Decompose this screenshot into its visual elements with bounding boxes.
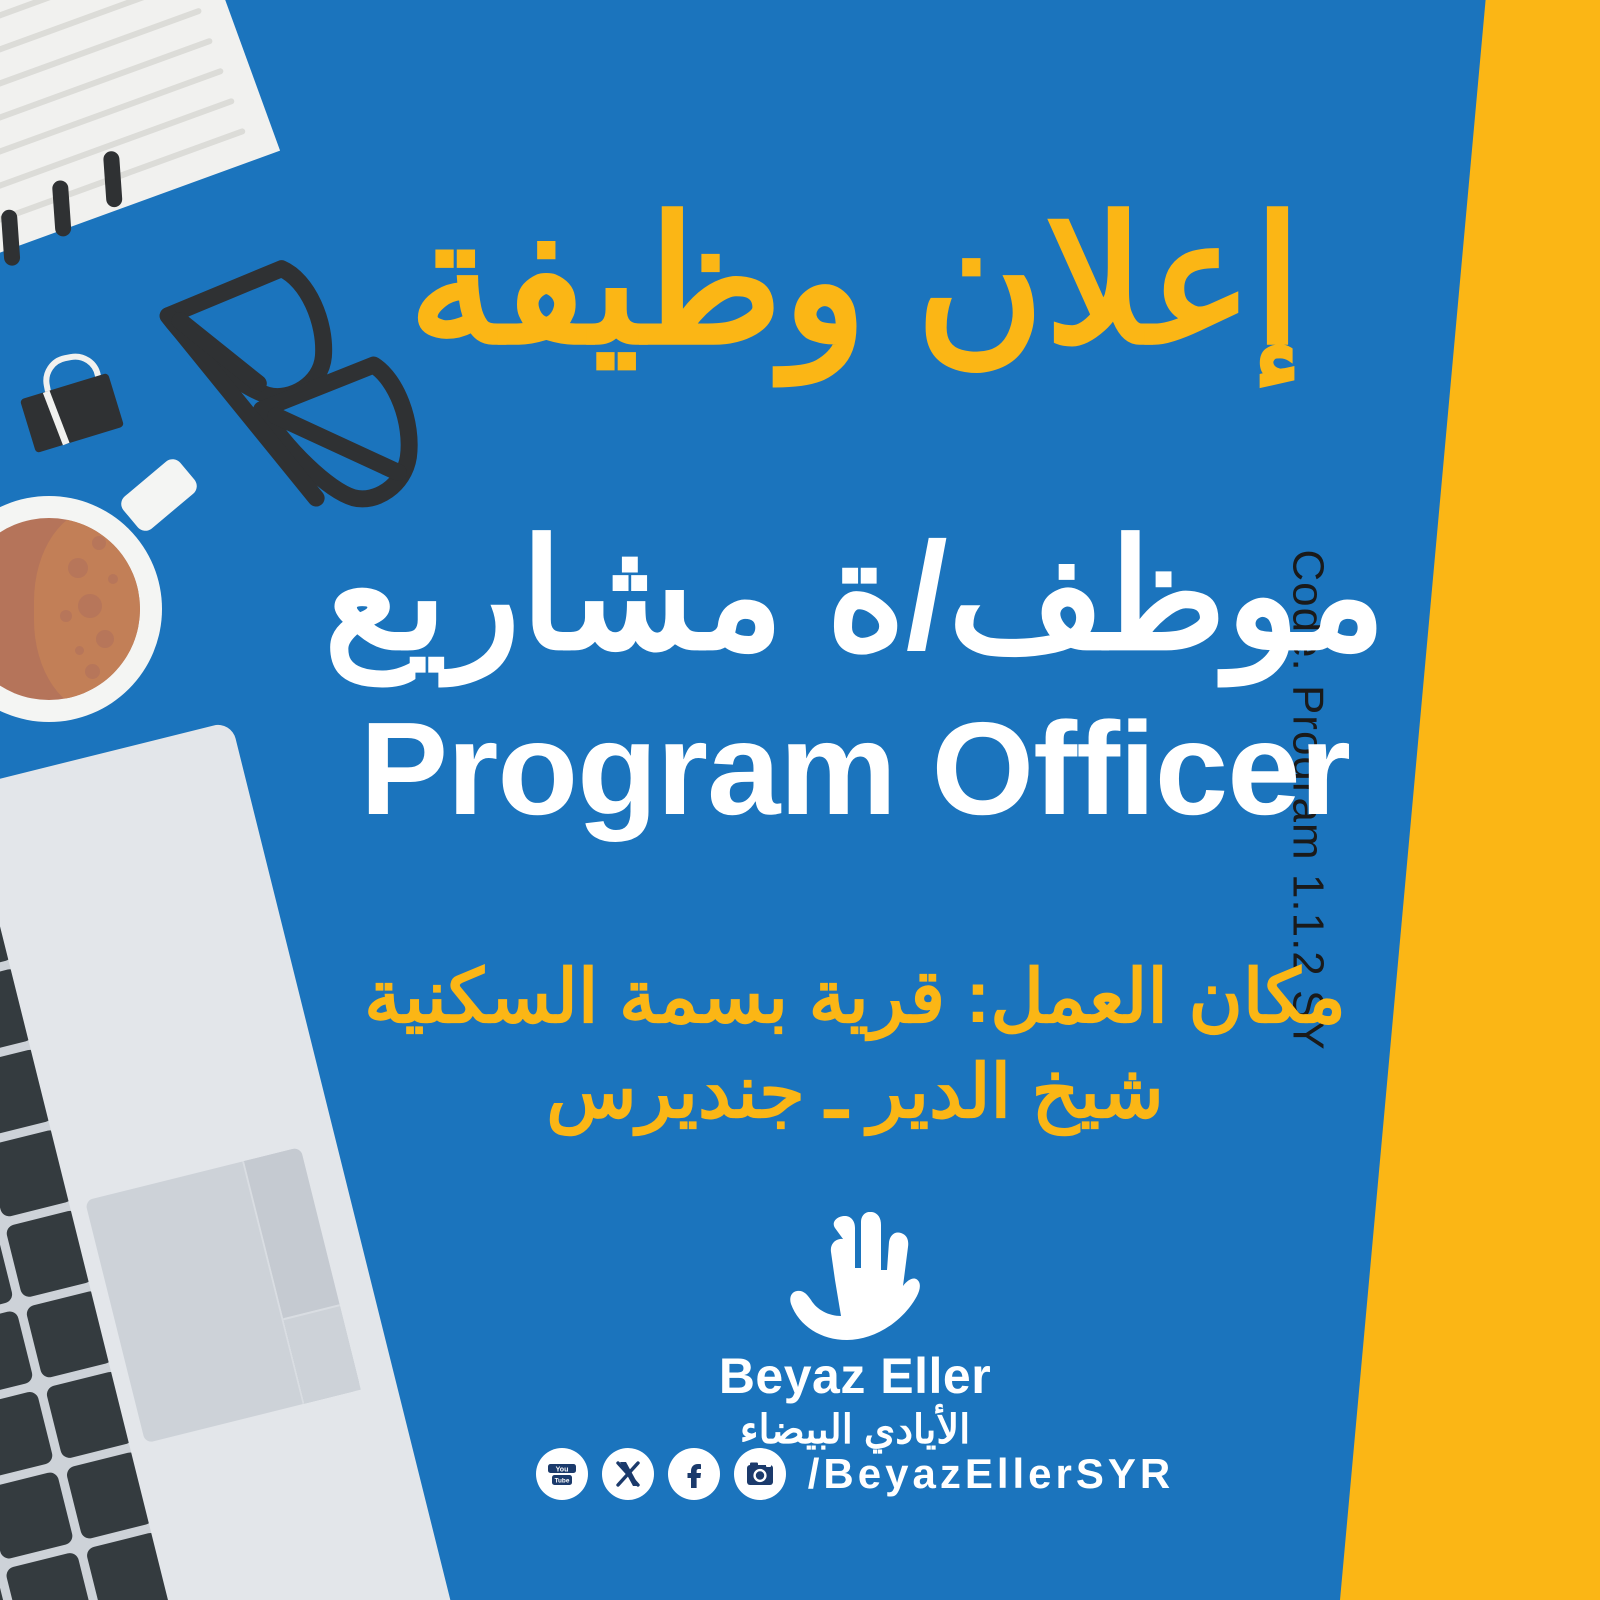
svg-text:You: You xyxy=(555,1466,568,1473)
social-links-row: You Tube xyxy=(300,1448,1410,1500)
job-announcement-poster: Code. Program 1.1.2 SY xyxy=(0,0,1600,1600)
poster-content: إعلان وظيفة موظف/ة مشاريع Program Office… xyxy=(300,0,1410,1600)
svg-text:Tube: Tube xyxy=(554,1478,569,1485)
page-title-arabic: إعلان وظيفة xyxy=(300,195,1410,370)
organization-logo-block: Beyaz Eller الأيادي البيضاء xyxy=(300,1212,1410,1453)
instagram-icon[interactable] xyxy=(734,1448,786,1500)
job-title-english: Program Officer xyxy=(300,700,1410,839)
social-handle[interactable]: /BeyazEllerSYR xyxy=(808,1450,1175,1498)
logo-name-arabic: الأيادي البيضاء xyxy=(300,1407,1410,1453)
work-location-line-2: شيخ الدير ـ جنديرس xyxy=(300,1045,1410,1140)
youtube-icon[interactable]: You Tube xyxy=(536,1448,588,1500)
work-location: مكان العمل: قرية بسمة السكنية شيخ الدير … xyxy=(300,950,1410,1139)
work-location-line-1: مكان العمل: قرية بسمة السكنية xyxy=(300,950,1410,1045)
binder-clip xyxy=(10,348,130,459)
job-title-arabic: موظف/ة مشاريع xyxy=(300,520,1410,672)
x-twitter-icon[interactable] xyxy=(602,1448,654,1500)
binder-clip-body xyxy=(20,373,124,453)
coffee-liquid xyxy=(0,518,140,700)
white-hand-logo-icon xyxy=(789,1212,921,1340)
facebook-icon[interactable] xyxy=(668,1448,720,1500)
logo-name-latin: Beyaz Eller xyxy=(300,1347,1410,1405)
coffee-cup xyxy=(0,470,206,720)
